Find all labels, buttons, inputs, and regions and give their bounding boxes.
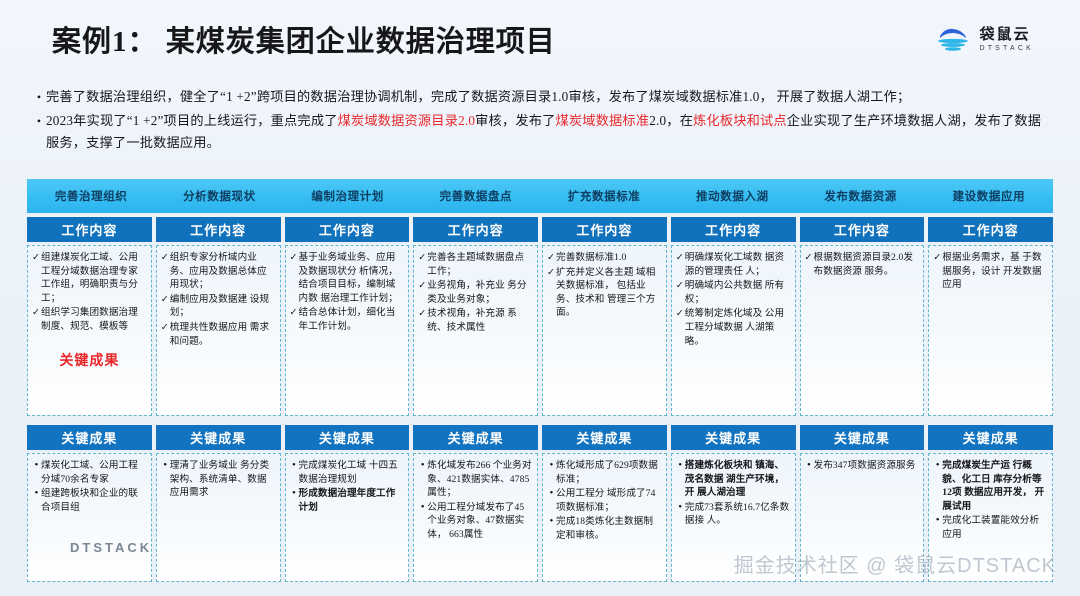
key-result-item-text: 完成73套系统16.7亿条数据接 人。	[685, 501, 791, 528]
work-item-text: 扩充并定义各主题 域相关数据标准， 包括业务、技术和 管理三个方面。	[556, 266, 662, 320]
key-result-item-text: 发布347项数据资源服务	[814, 459, 920, 473]
summary-bullets: •完善了数据治理组织，健全了“1 +2”跨项目的数据治理协调机制，完成了数据资源…	[32, 86, 1052, 156]
bullet-dot-icon: •	[547, 515, 556, 529]
row-spacer	[800, 416, 925, 425]
highlighted-text: 煤炭域数据标准	[556, 113, 650, 128]
stage-bar: 完善治理组织分析数据现状编制治理计划完善数据盘点扩充数据标准推动数据入湖发布数据…	[27, 179, 1053, 213]
bullet-dot-icon: •	[418, 459, 427, 473]
work-item-text: 基于业务域业务、应用及数据现状分 析情况，结合项目目标，编制域内数 据治理工作计…	[299, 251, 405, 305]
row-spacer	[413, 416, 538, 425]
check-icon: ✓	[418, 307, 427, 321]
bullet-dot-icon: •	[418, 501, 427, 515]
key-result-item: •煤炭化工域、公用工程分域70余名专家	[32, 459, 147, 486]
check-icon: ✓	[547, 251, 556, 265]
work-item-text: 根据数据资源目录2.0发布数据资源 服务。	[814, 251, 920, 278]
key-result-header[interactable]: 关键成果	[156, 425, 281, 450]
work-item-text: 统筹制定炼化域及 公用工程分域数据 人湖策略。	[685, 307, 791, 348]
stage-columns: 工作内容✓组建煤炭化工域、公用工程分域数据治理专家工作组，明确职责与分工；✓组织…	[27, 217, 1053, 565]
stage-column: 工作内容✓明确煤炭化工域数 据资源的管理责任 人；✓明确域内公共数据 所有权；✓…	[671, 217, 796, 565]
work-item-text: 完善数据标准1.0	[556, 251, 662, 265]
key-result-item: •完成73套系统16.7亿条数据接 人。	[676, 501, 791, 528]
work-item-text: 编制应用及数据建 设规划；	[170, 293, 276, 320]
key-result-item: •搭建炼化板块和 镇海、茂名数据 湖生产环境，开 展人湖治理	[676, 459, 791, 500]
check-icon: ✓	[290, 306, 299, 320]
highlighted-text: 煤炭域数据资源目录2.0	[338, 113, 476, 128]
key-result-item: •发布347项数据资源服务	[805, 459, 920, 473]
bullet-dot-icon: •	[32, 487, 41, 501]
work-item: ✓基于业务域业务、应用及数据现状分 析情况，结合项目目标，编制域内数 据治理工作…	[290, 251, 405, 305]
key-result-box: •理清了业务域业 务分类架构、系统清单、数据应用需求	[156, 453, 281, 582]
work-content-box: ✓完善各主题域数据盘点工作；✓业务视角，补充业 务分类及业务对象；✓技术视角，补…	[413, 245, 538, 416]
key-result-header[interactable]: 关键成果	[800, 425, 925, 450]
key-result-box: •完成煤炭化工域 十四五数据治理规划•形成数据治理年度工作计划	[285, 453, 410, 582]
row-spacer	[542, 416, 667, 425]
plain-text: 完善了数据治理组织，健全了“1 +2”跨项目的数据治理协调机制，完成了数据资源目…	[46, 89, 910, 104]
work-content-box: ✓明确煤炭化工域数 据资源的管理责任 人；✓明确域内公共数据 所有权；✓统筹制定…	[671, 245, 796, 416]
work-content-header[interactable]: 工作内容	[671, 217, 796, 242]
key-result-item: •完成煤炭生产运 行概貌、化工日 库存分析等12项 数据应用开发， 开展试用	[933, 459, 1048, 513]
row-spacer	[671, 416, 796, 425]
key-result-item: •炼化域形成了629项数据标准；	[547, 459, 662, 486]
bullet-dot-icon: •	[290, 487, 299, 501]
check-icon: ✓	[418, 251, 427, 265]
stage-label-7[interactable]: 发布数据资源	[797, 179, 925, 213]
work-content-header[interactable]: 工作内容	[285, 217, 410, 242]
check-icon: ✓	[805, 251, 814, 265]
check-icon: ✓	[290, 251, 299, 265]
work-item-text: 组织学习集团数据治理制度、规范、模板等	[41, 306, 147, 333]
bullet-marker-icon: •	[32, 86, 46, 108]
work-item-text: 业务视角，补充业 务分类及业务对象；	[427, 279, 533, 306]
bullet-dot-icon: •	[32, 459, 41, 473]
work-content-box: ✓根据业务需求，基 于数据服务，设计 开发数据应用	[928, 245, 1053, 416]
key-result-header[interactable]: 关键成果	[928, 425, 1053, 450]
summary-bullet-text: 2023年实现了“1 +2”项目的上线运行，重点完成了煤炭域数据资源目录2.0审…	[46, 110, 1052, 154]
check-icon: ✓	[32, 306, 41, 320]
key-result-item: •炼化域发布266 个业务对象、421数据实体、4785属性；	[418, 459, 533, 500]
key-result-item-text: 煤炭化工域、公用工程分域70余名专家	[41, 459, 147, 486]
work-item-text: 完善各主题域数据盘点工作；	[427, 251, 533, 278]
work-content-header[interactable]: 工作内容	[156, 217, 281, 242]
plain-text: 2.0，在	[649, 113, 693, 128]
work-item: ✓统筹制定炼化域及 公用工程分域数据 人湖策略。	[676, 307, 791, 348]
work-item-text: 明确域内公共数据 所有权；	[685, 279, 791, 306]
row-spacer	[27, 416, 152, 425]
stage-column: 工作内容✓根据数据资源目录2.0发布数据资源 服务。关键成果•发布347项数据资…	[800, 217, 925, 565]
check-icon: ✓	[161, 251, 170, 265]
work-item-text: 根据业务需求，基 于数据服务，设计 开发数据应用	[942, 251, 1048, 292]
work-item: ✓组织学习集团数据治理制度、规范、模板等	[32, 306, 147, 333]
stage-column: 工作内容✓根据业务需求，基 于数据服务，设计 开发数据应用关键成果•完成煤炭生产…	[928, 217, 1053, 565]
check-icon: ✓	[676, 279, 685, 293]
key-result-header[interactable]: 关键成果	[671, 425, 796, 450]
bullet-dot-icon: •	[676, 501, 685, 515]
key-result-item-text: 完成18类炼化主数据制定和审核。	[556, 515, 662, 542]
stage-label-2[interactable]: 分析数据现状	[155, 179, 283, 213]
key-result-item: •公用工程分 域形成了74项数据标准；	[547, 487, 662, 514]
bullet-dot-icon: •	[805, 459, 814, 473]
stage-column: 工作内容✓完善数据标准1.0✓扩充并定义各主题 域相关数据标准， 包括业务、技术…	[542, 217, 667, 565]
stage-column: 工作内容✓完善各主题域数据盘点工作；✓业务视角，补充业 务分类及业务对象；✓技术…	[413, 217, 538, 565]
key-result-box: •炼化域形成了629项数据标准；•公用工程分 域形成了74项数据标准；•完成18…	[542, 453, 667, 582]
row-spacer	[928, 416, 1053, 425]
stage-label-1[interactable]: 完善治理组织	[27, 179, 155, 213]
key-result-item-text: 公用工程分域发布了45个业务对象、47数据实体， 663属性	[427, 501, 533, 542]
work-item-text: 组建煤炭化工域、公用工程分域数据治理专家工作组，明确职责与分工；	[41, 251, 147, 305]
key-result-item-text: 公用工程分 域形成了74项数据标准；	[556, 487, 662, 514]
check-icon: ✓	[161, 293, 170, 307]
work-item-text: 组织专家分析域内业务、应用及数据总体应用现状；	[170, 251, 276, 292]
work-item: ✓完善数据标准1.0	[547, 251, 662, 265]
key-result-item-text: 组建跨板块和企业的联合项目组	[41, 487, 147, 514]
bullet-dot-icon: •	[547, 459, 556, 473]
work-item: ✓结合总体计划，细化当年工作计划。	[290, 306, 405, 333]
highlighted-text: 炼化板块和试点	[693, 113, 787, 128]
stage-label-8[interactable]: 建设数据应用	[925, 179, 1053, 213]
key-result-item: •公用工程分域发布了45个业务对象、47数据实体， 663属性	[418, 501, 533, 542]
key-result-header[interactable]: 关键成果	[413, 425, 538, 450]
check-icon: ✓	[547, 266, 556, 280]
footer-logo: DTSTACK	[70, 540, 152, 555]
brand-logo: 袋鼠云 DTSTACK	[936, 25, 1034, 53]
work-content-box: ✓组建煤炭化工域、公用工程分域数据治理专家工作组，明确职责与分工；✓组织学习集团…	[27, 245, 152, 416]
bullet-dot-icon: •	[933, 514, 942, 528]
work-item: ✓编制应用及数据建 设规划；	[161, 293, 276, 320]
work-content-box: ✓完善数据标准1.0✓扩充并定义各主题 域相关数据标准， 包括业务、技术和 管理…	[542, 245, 667, 416]
work-content-box: ✓根据数据资源目录2.0发布数据资源 服务。	[800, 245, 925, 416]
work-item: ✓梳理共性数据应用 需求和问题。	[161, 321, 276, 348]
work-item: ✓组建煤炭化工域、公用工程分域数据治理专家工作组，明确职责与分工；	[32, 251, 147, 305]
key-result-item-text: 完成化工装置能效分析应用	[942, 514, 1048, 541]
dtstack-cloud-logo-icon	[936, 25, 972, 53]
plain-text: 审核，发布了	[475, 113, 555, 128]
work-content-header[interactable]: 工作内容	[413, 217, 538, 242]
key-result-item: •形成数据治理年度工作计划	[290, 487, 405, 514]
key-result-box: •炼化域发布266 个业务对象、421数据实体、4785属性；•公用工程分域发布…	[413, 453, 538, 582]
summary-bullet: •完善了数据治理组织，健全了“1 +2”跨项目的数据治理协调机制，完成了数据资源…	[32, 86, 1052, 108]
check-icon: ✓	[933, 251, 942, 265]
stage-label-5[interactable]: 扩充数据标准	[540, 179, 668, 213]
work-item-text: 结合总体计划，细化当年工作计划。	[299, 306, 405, 333]
work-item-text: 梳理共性数据应用 需求和问题。	[170, 321, 276, 348]
key-result-item: •完成煤炭化工域 十四五数据治理规划	[290, 459, 405, 486]
check-icon: ✓	[32, 251, 41, 265]
key-result-header[interactable]: 关键成果	[27, 425, 152, 450]
work-item-text: 明确煤炭化工域数 据资源的管理责任 人；	[685, 251, 791, 278]
work-content-header[interactable]: 工作内容	[542, 217, 667, 242]
key-result-item: •完成化工装置能效分析应用	[933, 514, 1048, 541]
work-item: ✓组织专家分析域内业务、应用及数据总体应用现状；	[161, 251, 276, 292]
key-result-note: 关键成果	[32, 350, 147, 370]
stage-label-6[interactable]: 推动数据入湖	[668, 179, 796, 213]
brand-name-en: DTSTACK	[979, 45, 1034, 52]
key-result-item: •组建跨板块和企业的联合项目组	[32, 487, 147, 514]
page-title: 案例1： 某煤炭集团企业数据治理项目	[52, 18, 556, 60]
row-spacer	[156, 416, 281, 425]
key-result-item-text: 完成煤炭生产运 行概貌、化工日 库存分析等12项 数据应用开发， 开展试用	[942, 459, 1048, 513]
check-icon: ✓	[676, 251, 685, 265]
bullet-dot-icon: •	[933, 459, 942, 473]
work-content-header[interactable]: 工作内容	[928, 217, 1053, 242]
work-item: ✓完善各主题域数据盘点工作；	[418, 251, 533, 278]
work-content-box: ✓基于业务域业务、应用及数据现状分 析情况，结合项目目标，编制域内数 据治理工作…	[285, 245, 410, 416]
bullet-dot-icon: •	[290, 459, 299, 473]
work-item-text: 技术视角，补充源 系统、技术属性	[427, 307, 533, 334]
key-result-item: •完成18类炼化主数据制定和审核。	[547, 515, 662, 542]
key-result-item-text: 炼化域发布266 个业务对象、421数据实体、4785属性；	[427, 459, 533, 500]
work-item: ✓扩充并定义各主题 域相关数据标准， 包括业务、技术和 管理三个方面。	[547, 266, 662, 320]
work-item: ✓业务视角，补充业 务分类及业务对象；	[418, 279, 533, 306]
bullet-marker-icon: •	[32, 110, 46, 132]
key-result-item-text: 完成煤炭化工域 十四五数据治理规划	[299, 459, 405, 486]
work-content-header[interactable]: 工作内容	[800, 217, 925, 242]
work-item: ✓明确煤炭化工域数 据资源的管理责任 人；	[676, 251, 791, 278]
work-item: ✓明确域内公共数据 所有权；	[676, 279, 791, 306]
stage-column: 工作内容✓组建煤炭化工域、公用工程分域数据治理专家工作组，明确职责与分工；✓组织…	[27, 217, 152, 565]
slide-canvas: 案例1： 某煤炭集团企业数据治理项目 袋鼠云 DTSTACK •完善了数据治理组…	[0, 0, 1080, 596]
key-result-item-text: 理清了业务域业 务分类架构、系统清单、数据应用需求	[170, 459, 276, 500]
key-result-item-text: 形成数据治理年度工作计划	[299, 487, 405, 514]
bullet-dot-icon: •	[676, 459, 685, 473]
watermark: 掘金技术社区 @ 袋鼠云DTSTACK	[734, 549, 1056, 578]
stage-column: 工作内容✓组织专家分析域内业务、应用及数据总体应用现状；✓编制应用及数据建 设规…	[156, 217, 281, 565]
work-content-header[interactable]: 工作内容	[27, 217, 152, 242]
key-result-item-text: 炼化域形成了629项数据标准；	[556, 459, 662, 486]
work-item: ✓根据数据资源目录2.0发布数据资源 服务。	[805, 251, 920, 278]
key-result-header[interactable]: 关键成果	[285, 425, 410, 450]
brand-name-cn: 袋鼠云	[979, 27, 1034, 42]
bullet-dot-icon: •	[161, 459, 170, 473]
stage-column: 工作内容✓基于业务域业务、应用及数据现状分 析情况，结合项目目标，编制域内数 据…	[285, 217, 410, 565]
row-spacer	[285, 416, 410, 425]
work-item: ✓根据业务需求，基 于数据服务，设计 开发数据应用	[933, 251, 1048, 292]
work-item: ✓技术视角，补充源 系统、技术属性	[418, 307, 533, 334]
summary-bullet: •2023年实现了“1 +2”项目的上线运行，重点完成了煤炭域数据资源目录2.0…	[32, 110, 1052, 154]
check-icon: ✓	[676, 307, 685, 321]
key-result-item: •理清了业务域业 务分类架构、系统清单、数据应用需求	[161, 459, 276, 500]
check-icon: ✓	[161, 321, 170, 335]
stage-label-3[interactable]: 编制治理计划	[284, 179, 412, 213]
summary-bullet-text: 完善了数据治理组织，健全了“1 +2”跨项目的数据治理协调机制，完成了数据资源目…	[46, 86, 1052, 108]
key-result-box: •煤炭化工域、公用工程分域70余名专家•组建跨板块和企业的联合项目组	[27, 453, 152, 582]
key-result-header[interactable]: 关键成果	[542, 425, 667, 450]
plain-text: 2023年实现了“1 +2”项目的上线运行，重点完成了	[46, 113, 338, 128]
check-icon: ✓	[418, 279, 427, 293]
bullet-dot-icon: •	[547, 487, 556, 501]
work-content-box: ✓组织专家分析域内业务、应用及数据总体应用现状；✓编制应用及数据建 设规划；✓梳…	[156, 245, 281, 416]
stage-label-4[interactable]: 完善数据盘点	[412, 179, 540, 213]
key-result-item-text: 搭建炼化板块和 镇海、茂名数据 湖生产环境，开 展人湖治理	[685, 459, 791, 500]
